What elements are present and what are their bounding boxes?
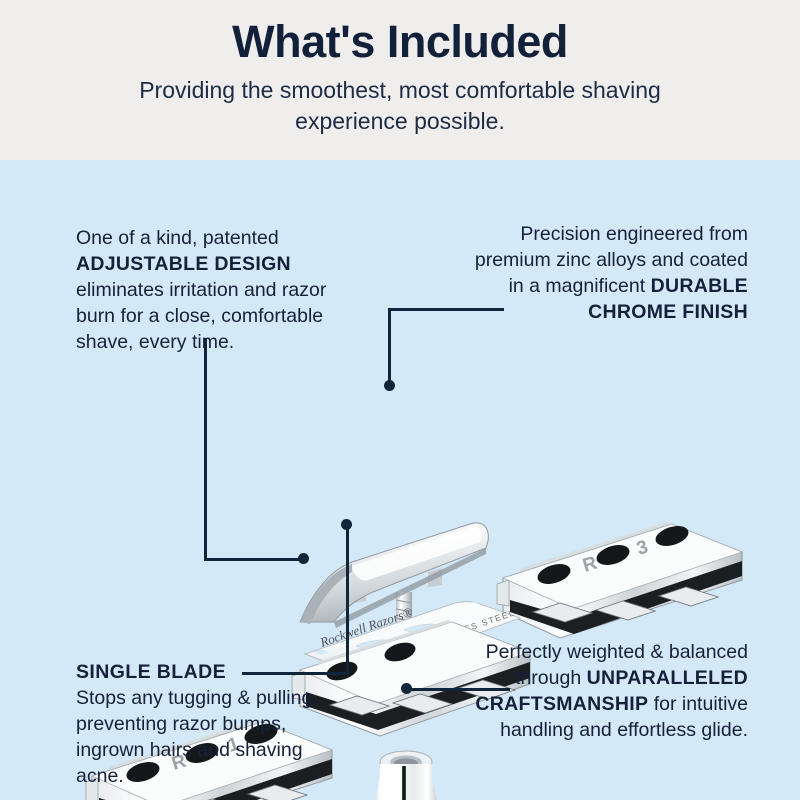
leader-line-adjustable-horizontal <box>204 558 304 561</box>
callout-emphasis: ADJUSTABLE DESIGN <box>76 253 291 275</box>
callout-text-after: Stops any tugging & pulling, preventing … <box>76 686 351 790</box>
header-band: What's Included Providing the smoothest,… <box>0 0 800 160</box>
product-illustration-area: R 3 <box>0 160 800 800</box>
callout-emphasis: SINGLE BLADE <box>76 660 226 686</box>
callout-text-before: One of a kind, patented <box>76 227 279 249</box>
razor-handle <box>368 751 444 800</box>
leader-dot-chrome <box>384 380 395 391</box>
callout-single-blade: SINGLE BLADE Stops any tugging & pulling… <box>76 660 351 790</box>
base-plate-r3: R 3 <box>497 522 742 638</box>
leader-line-chrome-vertical <box>388 308 391 385</box>
leader-line-adjustable-vertical <box>204 338 207 560</box>
leader-dot-craftsmanship <box>401 683 412 694</box>
infographic-page: What's Included Providing the smoothest,… <box>0 0 800 800</box>
leader-dot-blade <box>341 519 352 530</box>
leader-dot-adjustable <box>298 553 309 564</box>
page-subtitle: Providing the smoothest, most comfortabl… <box>90 75 710 136</box>
callout-durable-chrome-finish: Precision engineered from premium zinc a… <box>470 222 748 326</box>
callout-text-after: eliminates irritation and razor burn for… <box>76 279 326 353</box>
page-title: What's Included <box>232 18 568 65</box>
callout-unparalleled-craftsmanship: Perfectly weighted & balanced through UN… <box>468 640 748 744</box>
callout-adjustable-design: One of a kind, patented ADJUSTABLE DESIG… <box>76 226 344 356</box>
leader-line-blade-vertical <box>346 524 349 674</box>
